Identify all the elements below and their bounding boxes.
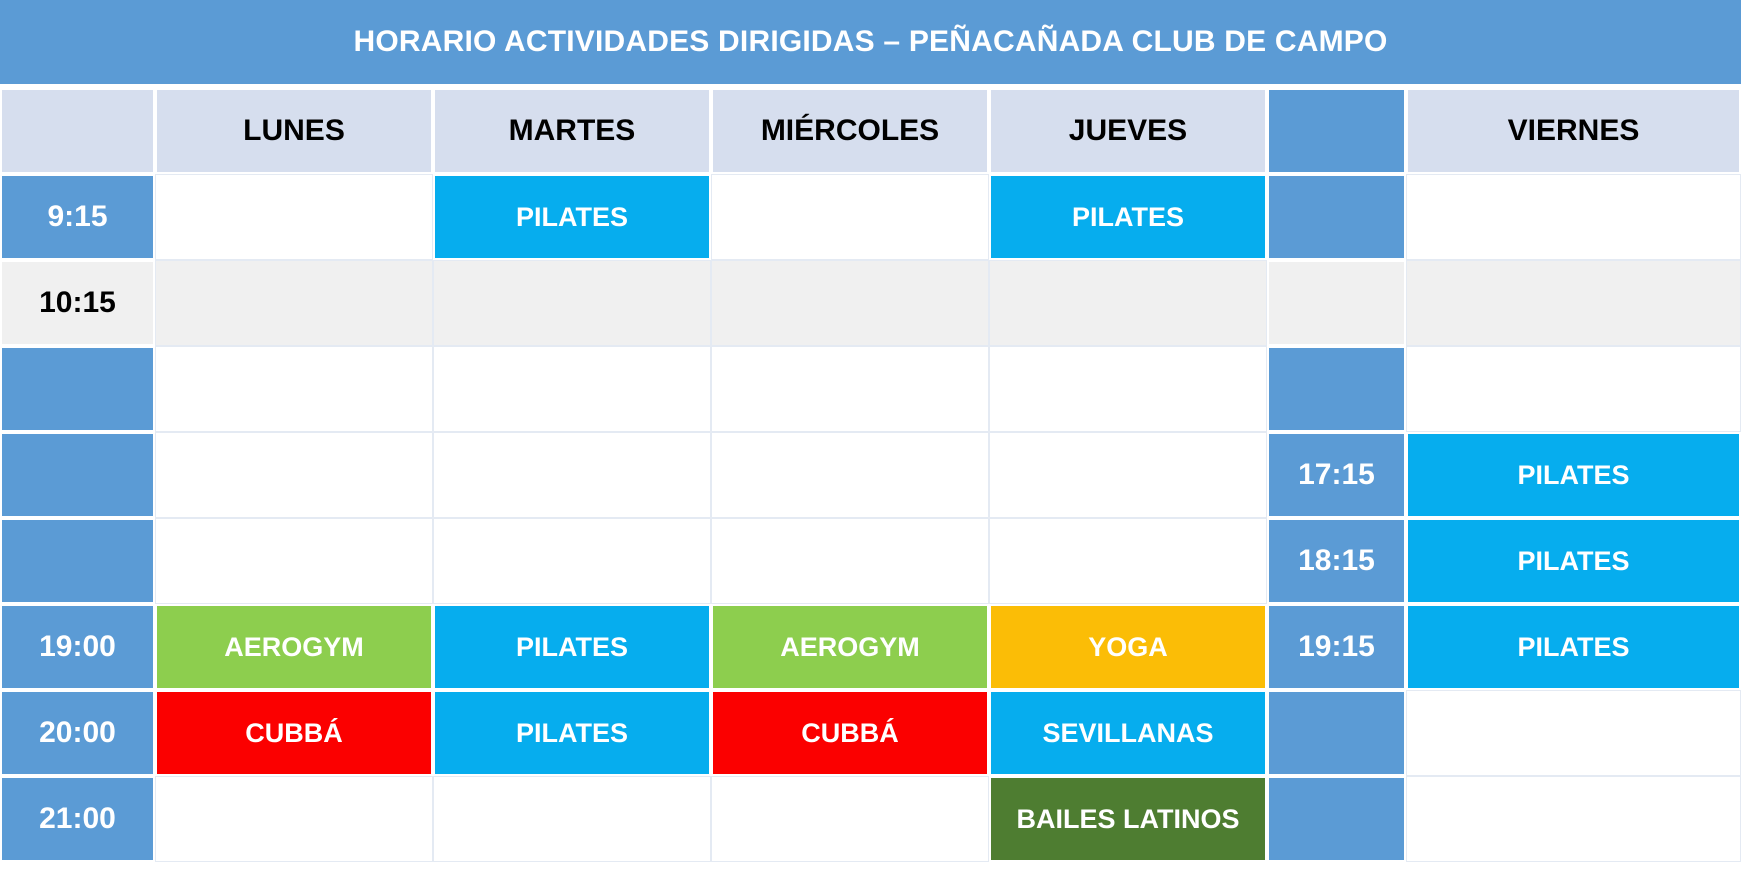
time-cell-mid: 19:15 xyxy=(1267,604,1406,690)
schedule-page: HORARIO ACTIVIDADES DIRIGIDAS – PEÑACAÑA… xyxy=(0,0,1741,872)
empty-cell xyxy=(155,174,433,260)
activity-cell[interactable]: CUBBÁ xyxy=(711,690,989,776)
header-day-miercoles: MIÉRCOLES xyxy=(711,88,989,174)
empty-cell xyxy=(433,776,711,862)
time-cell-left: 9:15 xyxy=(0,174,155,260)
empty-cell xyxy=(711,432,989,518)
time-cell-left: 21:00 xyxy=(0,776,155,862)
time-cell-left: 20:00 xyxy=(0,690,155,776)
time-cell-mid xyxy=(1267,260,1406,346)
activity-cell[interactable]: AEROGYM xyxy=(711,604,989,690)
activity-cell[interactable]: PILATES xyxy=(1406,604,1741,690)
time-cell-mid xyxy=(1267,174,1406,260)
time-cell-mid: 17:15 xyxy=(1267,432,1406,518)
activity-cell[interactable]: PILATES xyxy=(433,604,711,690)
time-cell-left: 10:15 xyxy=(0,260,155,346)
empty-cell xyxy=(1406,174,1741,260)
empty-cell xyxy=(1406,260,1741,346)
activity-cell[interactable]: YOGA xyxy=(989,604,1267,690)
empty-cell xyxy=(433,432,711,518)
page-title: HORARIO ACTIVIDADES DIRIGIDAS – PEÑACAÑA… xyxy=(353,25,1387,59)
header-day-martes: MARTES xyxy=(433,88,711,174)
time-cell-mid xyxy=(1267,776,1406,862)
empty-cell xyxy=(433,346,711,432)
empty-cell xyxy=(155,346,433,432)
empty-cell xyxy=(711,260,989,346)
schedule-grid: LUNES MARTES MIÉRCOLES JUEVES VIERNES 9:… xyxy=(0,88,1741,872)
time-cell-left: 19:00 xyxy=(0,604,155,690)
empty-cell xyxy=(155,518,433,604)
activity-cell[interactable]: PILATES xyxy=(433,174,711,260)
empty-cell xyxy=(711,174,989,260)
empty-cell xyxy=(989,346,1267,432)
empty-cell xyxy=(711,776,989,862)
empty-cell xyxy=(1406,346,1741,432)
empty-cell xyxy=(711,346,989,432)
activity-cell[interactable]: AEROGYM xyxy=(155,604,433,690)
time-cell-left xyxy=(0,518,155,604)
header-day-viernes: VIERNES xyxy=(1406,88,1741,174)
header-day-lunes: LUNES xyxy=(155,88,433,174)
activity-cell[interactable]: PILATES xyxy=(1406,518,1741,604)
empty-cell xyxy=(155,776,433,862)
empty-cell xyxy=(1406,690,1741,776)
time-cell-left xyxy=(0,346,155,432)
empty-cell xyxy=(433,518,711,604)
empty-cell xyxy=(711,518,989,604)
empty-cell xyxy=(433,260,711,346)
empty-cell xyxy=(155,260,433,346)
time-cell-mid: 18:15 xyxy=(1267,518,1406,604)
empty-cell xyxy=(155,432,433,518)
empty-cell xyxy=(989,518,1267,604)
time-cell-mid xyxy=(1267,690,1406,776)
activity-cell[interactable]: PILATES xyxy=(433,690,711,776)
title-banner: HORARIO ACTIVIDADES DIRIGIDAS – PEÑACAÑA… xyxy=(0,0,1741,84)
empty-cell xyxy=(989,432,1267,518)
activity-cell[interactable]: BAILES LATINOS xyxy=(989,776,1267,862)
activity-cell[interactable]: PILATES xyxy=(989,174,1267,260)
activity-cell[interactable]: SEVILLANAS xyxy=(989,690,1267,776)
empty-cell xyxy=(1406,776,1741,862)
time-cell-left xyxy=(0,432,155,518)
header-time-col-left xyxy=(0,88,155,174)
empty-cell xyxy=(989,260,1267,346)
header-day-jueves: JUEVES xyxy=(989,88,1267,174)
header-time-col-mid xyxy=(1267,88,1406,174)
time-cell-mid xyxy=(1267,346,1406,432)
activity-cell[interactable]: CUBBÁ xyxy=(155,690,433,776)
activity-cell[interactable]: PILATES xyxy=(1406,432,1741,518)
